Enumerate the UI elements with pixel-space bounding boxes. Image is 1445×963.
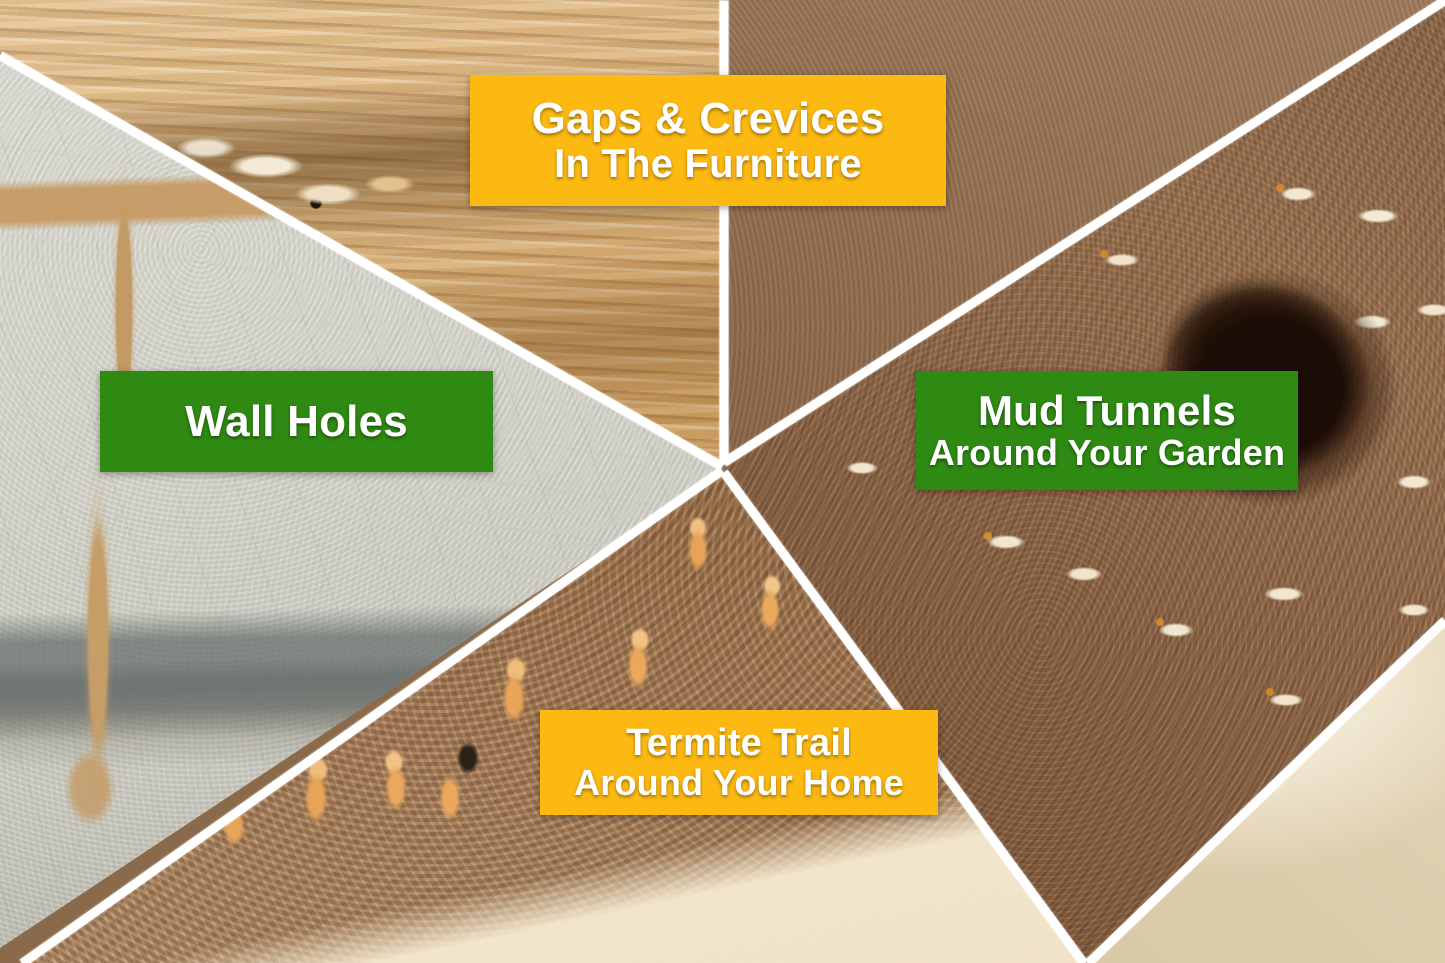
label-mud-line1: Mud Tunnels [978,389,1236,433]
label-gaps-line2: In The Furniture [554,144,862,186]
label-termite-trail[interactable]: Termite Trail Around Your Home [540,710,938,815]
label-mud-line2: Around Your Garden [929,434,1285,471]
infographic-canvas: Gaps & Crevices In The Furniture Wall Ho… [0,0,1445,963]
label-trail-line2: Around Your Home [574,764,904,801]
label-wall-line1: Wall Holes [185,399,408,445]
label-trail-line1: Termite Trail [626,724,852,764]
label-gaps-and-crevices[interactable]: Gaps & Crevices In The Furniture [470,75,946,206]
label-mud-tunnels[interactable]: Mud Tunnels Around Your Garden [916,371,1298,490]
label-gaps-line1: Gaps & Crevices [532,96,885,142]
divider-top-vertical [720,0,729,464]
label-wall-holes[interactable]: Wall Holes [100,371,493,472]
